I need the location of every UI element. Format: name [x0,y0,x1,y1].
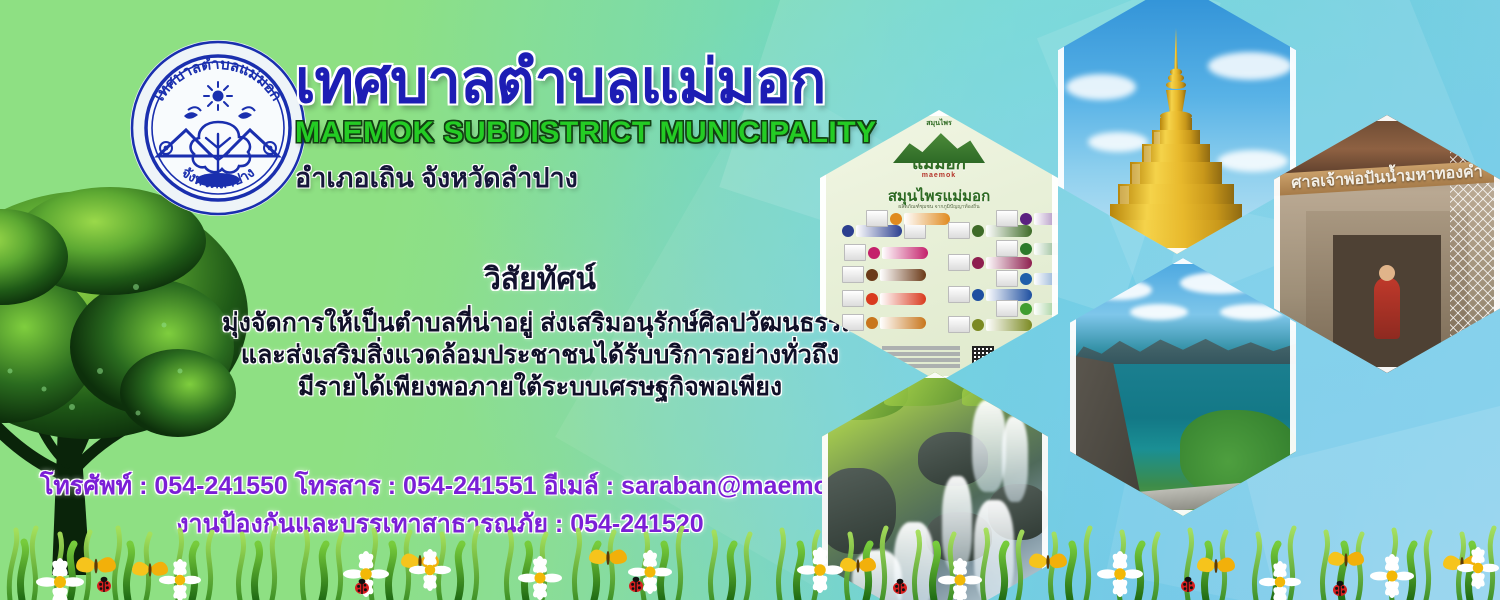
product-row [842,266,926,283]
product-tag [880,269,926,281]
product-dot [972,257,984,269]
shrine-image: ศาลเจ้าพ่อปันน้ำมหาทองคำ [1274,115,1500,373]
vision-line-2: และส่งเสริมสิ่งแวดล้อมประชาชนได้รับบริกา… [180,339,900,371]
vision-line-3: มีรายได้เพียงพอภายใต้ระบบเศรษฐกิจพอเพียง [180,371,900,403]
product-tag [1034,213,1058,225]
product-row [842,290,926,307]
water-stream [1002,416,1028,502]
herbal-logo-sub: maemok [893,172,985,179]
product-tag [1034,273,1058,285]
product-dot [972,289,984,301]
product-tag [904,213,950,225]
page-title-thai: เทศบาลตำบลแม่มอก [295,52,955,112]
product-row [996,270,1058,287]
product-tag [880,293,926,305]
reservoir-image [1070,258,1296,516]
hexagon-reservoir-dam[interactable] [1070,258,1296,516]
cloud-shape [1130,304,1188,320]
site-banner: เทศบาลตำบลแม่มอก จังหวัดลำปาง [0,0,1500,600]
mountain-icon [893,129,985,163]
page-title-english: MAEMOK SUBDISTRICT MUNICIPALITY [295,116,955,150]
product-box [948,286,970,303]
product-tag [1034,243,1058,255]
pagoda-image: วัดพ บ้านกุ่ อำเภ [1058,0,1296,254]
product-box [996,270,1018,287]
ladybug-icon [97,577,1347,596]
product-tag [986,319,1032,331]
pagoda-icon [1102,28,1252,254]
product-dot [1020,243,1032,255]
product-dot [842,225,854,237]
product-row [996,240,1058,257]
product-dot [972,225,984,237]
product-box [996,300,1018,317]
product-box [842,290,864,307]
product-tag [986,257,1032,269]
product-dot [890,213,902,225]
leaf-shape [962,376,1032,406]
product-row [948,316,1032,333]
municipality-seal-logo: เทศบาลตำบลแม่มอก จังหวัดลำปาง [128,38,308,218]
product-row [842,314,926,331]
product-dot [1020,213,1032,225]
product-tag [986,289,1032,301]
dam-wall [1070,354,1176,504]
monk-statue-icon [1374,277,1400,339]
product-row [996,300,1058,317]
pagoda-caption: วัดพ บ้านกุ่ อำเภ [1260,0,1288,19]
hexagon-shrine[interactable]: ศาลเจ้าพ่อปันน้ำมหาทองคำ [1274,115,1500,373]
qr-code-icon [972,346,994,368]
pagoda-caption-line1: วัดพ [1260,0,1288,2]
product-box [996,240,1018,257]
vision-block: วิสัยทัศน์ มุ่งจัดการให้เป็นตำบลที่น่าอย… [180,256,900,403]
product-row [866,210,950,227]
product-box [842,314,864,331]
product-dot [1020,303,1032,315]
contact-phone-fax-email[interactable]: โทรศัพท์ : 054-241550 โทรสาร : 054-24155… [40,470,840,504]
sun-icon [204,82,232,110]
product-dot [866,317,878,329]
product-box [844,244,866,261]
product-dot [866,293,878,305]
product-dot [972,319,984,331]
grass-flower-strip [0,508,1500,600]
product-row [996,210,1058,227]
product-dot [866,269,878,281]
cloud-shape [1180,272,1260,294]
product-tag [882,247,928,259]
product-box [948,316,970,333]
hexagon-pagoda[interactable]: วัดพ บ้านกุ่ อำเภ [1058,0,1296,254]
vision-line-1: มุ่งจัดการให้เป็นตำบลที่น่าอยู่ ส่งเสริม… [180,307,900,339]
water-stream [972,400,1006,492]
vision-heading: วิสัยทัศน์ [180,256,900,303]
pagoda-caption-line2: บ้านกุ่ [1260,2,1288,10]
product-dot [1020,273,1032,285]
cloud-shape [1086,280,1152,300]
product-box [996,210,1018,227]
product-box [948,222,970,239]
product-box [866,210,888,227]
product-row [844,244,928,261]
product-dot [868,247,880,259]
mountain-range-icon [1070,330,1296,364]
product-tag [880,317,926,329]
product-box [842,266,864,283]
product-box [948,254,970,271]
product-tag [1034,303,1058,315]
pagoda-caption-line3: อำเภ [1260,10,1288,18]
